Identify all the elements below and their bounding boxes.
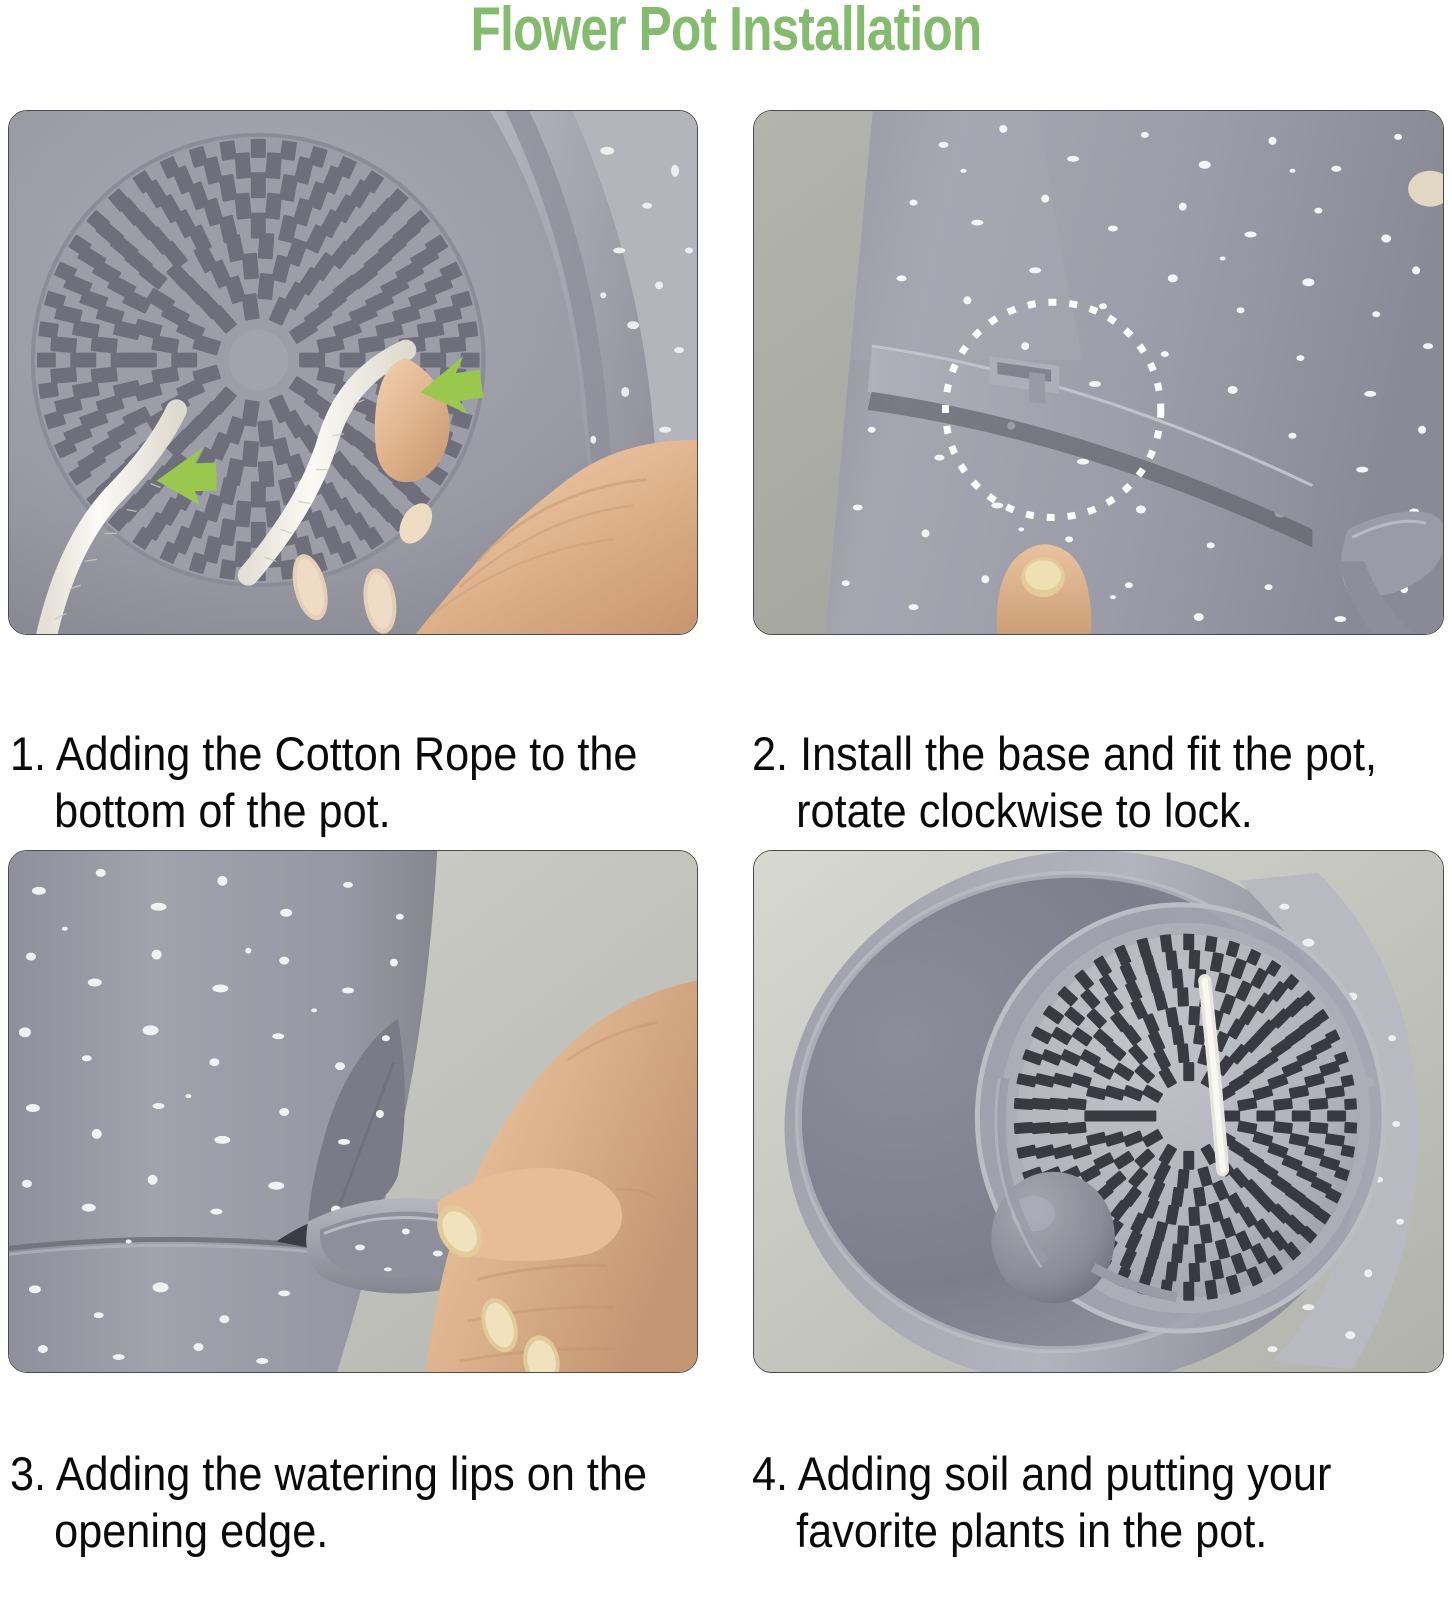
step-4-caption-line2: favorite plants in the pot. xyxy=(752,1502,1433,1559)
step-3-caption-line1: 3. Adding the watering lips on the xyxy=(10,1447,647,1500)
step-1-caption: 1. Adding the Cotton Rope to the bottom … xyxy=(10,668,691,896)
step-1-caption-line1: 1. Adding the Cotton Rope to the xyxy=(10,727,637,780)
step-3-image xyxy=(8,850,698,1373)
pot-bottom-with-cotton-rope-illustration xyxy=(9,111,697,634)
step-3-caption: 3. Adding the watering lips on the openi… xyxy=(10,1388,691,1616)
step-2-caption-line1: 2. Install the base and fit the pot, xyxy=(752,727,1377,780)
pot-base-lock-tab-illustration xyxy=(754,111,1443,634)
pot-interior-drainage-disc-illustration xyxy=(754,851,1443,1372)
step-1-caption-line2: bottom of the pot. xyxy=(10,782,691,839)
step-2-caption: 2. Install the base and fit the pot, rot… xyxy=(752,668,1433,896)
step-4-caption: 4. Adding soil and putting your favorite… xyxy=(752,1388,1433,1616)
step-3-caption-line2: opening edge. xyxy=(10,1502,691,1559)
step-4-caption-line1: 4. Adding soil and putting your xyxy=(752,1447,1331,1500)
page-title: Flower Pot Installation xyxy=(145,0,1307,66)
step-4-image xyxy=(753,850,1444,1373)
step-1-image xyxy=(8,110,698,635)
step-2-image xyxy=(753,110,1444,635)
attaching-watering-lip-illustration xyxy=(9,851,697,1372)
step-2-caption-line2: rotate clockwise to lock. xyxy=(752,782,1433,839)
